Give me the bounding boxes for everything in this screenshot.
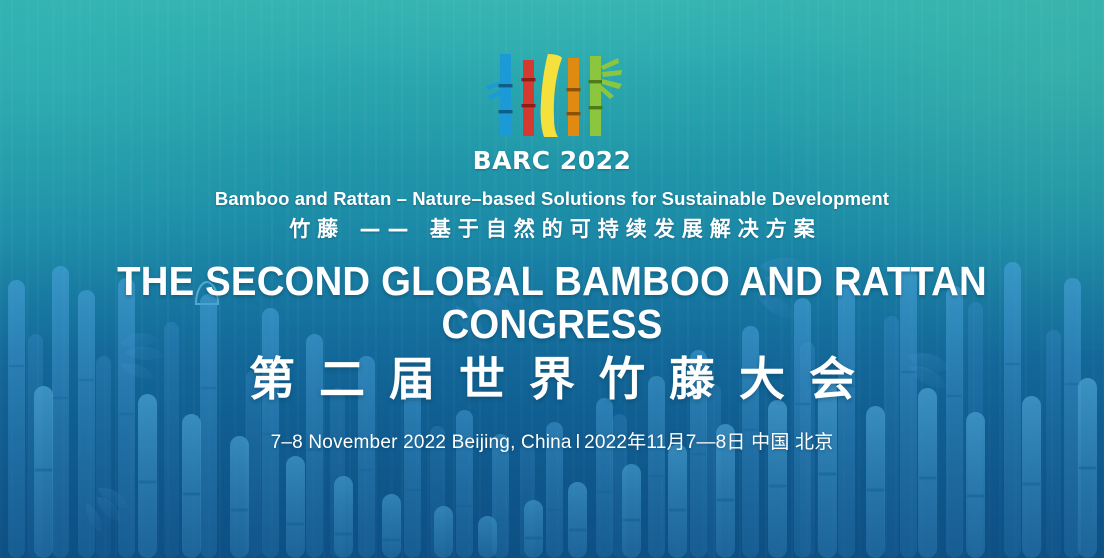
logo-wordmark: BARC 2022 — [473, 146, 632, 175]
title-chinese: 第二届世界竹藤大会 — [0, 352, 1104, 407]
congress-poster: BARC 2022 Bamboo and Rattan – Nature–bas… — [0, 0, 1104, 558]
subtitle-chinese: 竹藤 —— 基于自然的可持续发展解决方案 — [0, 216, 1104, 242]
logo-block: BARC 2022 — [0, 48, 1104, 175]
title-english: THE SECOND GLOBAL BAMBOO AND RATTAN CONG… — [36, 260, 1068, 346]
date-separator: l — [572, 432, 584, 453]
poster-text-block: Bamboo and Rattan – Nature–based Solutio… — [0, 188, 1104, 454]
date-chinese: 2022年11月7—8日 中国 北京 — [584, 432, 833, 453]
subtitle-english: Bamboo and Rattan – Nature–based Solutio… — [0, 188, 1104, 210]
barc-bamboo-logo-icon — [472, 48, 632, 140]
dateline: 7–8 November 2022 Beijing, Chinal2022年11… — [0, 427, 1104, 454]
date-english: 7–8 November 2022 Beijing, China — [271, 432, 572, 453]
